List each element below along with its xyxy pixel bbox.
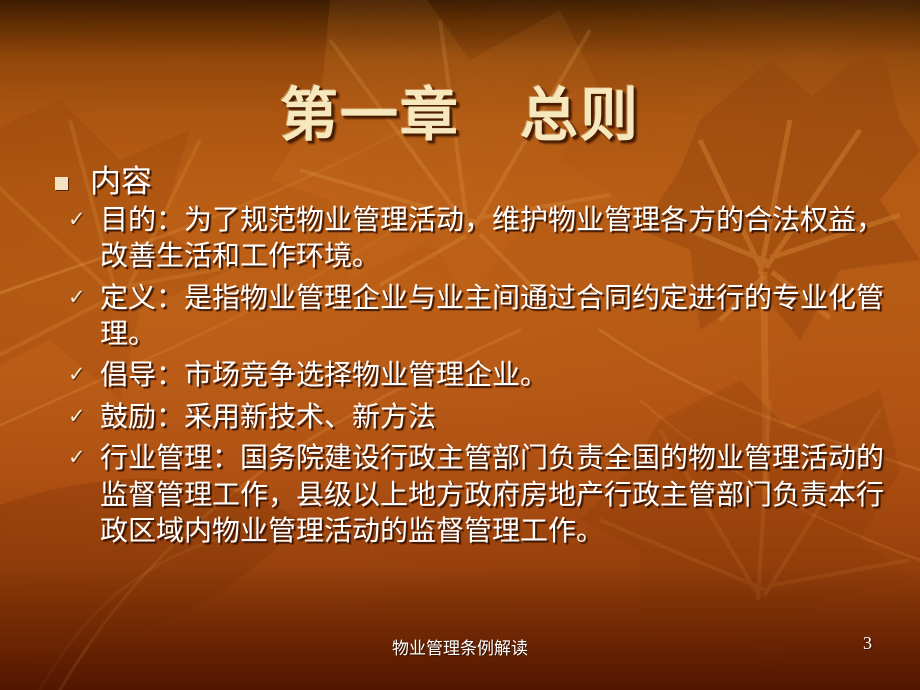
bullet-item-encouragement: ✓ 鼓励：采用新技术、新方法	[44, 400, 892, 436]
page-number: 3	[863, 633, 872, 654]
bullet-item-advocacy: ✓ 倡导：市场竞争选择物业管理企业。	[44, 358, 892, 394]
bullet-item-purpose: ✓ 目的：为了规范物业管理活动，维护物业管理各方的合法权益，改善生活和工作环境。	[44, 203, 892, 276]
check-bullet-icon: ✓	[68, 447, 86, 468]
presentation-slide: 第一章 总则 内容 ✓ 目的：为了规范物业管理活动，维护物业管理各方的合法权益，…	[0, 0, 920, 690]
bullet-item-definition: ✓ 定义：是指物业管理企业与业主间通过合同约定进行的专业化管理。	[44, 281, 892, 354]
check-bullet-icon: ✓	[68, 287, 86, 308]
check-bullet-icon: ✓	[68, 209, 86, 230]
bullet-item-text: 定义：是指物业管理企业与业主间通过合同约定进行的专业化管理。	[100, 281, 892, 354]
slide-body-content: 内容 ✓ 目的：为了规范物业管理活动，维护物业管理各方的合法权益，改善生活和工作…	[44, 163, 892, 555]
bullet-item-text: 鼓励：采用新技术、新方法	[100, 400, 892, 436]
bullet-item-text: 行业管理：国务院建设行政主管部门负责全国的物业管理活动的监督管理工作，县级以上地…	[100, 441, 892, 550]
bullet-item-industry-management: ✓ 行业管理：国务院建设行政主管部门负责全国的物业管理活动的监督管理工作，县级以…	[44, 441, 892, 550]
content-heading-label: 内容	[90, 163, 152, 201]
bullet-item-text: 倡导：市场竞争选择物业管理企业。	[100, 358, 892, 394]
content-heading-row: 内容	[44, 163, 892, 201]
check-bullet-icon: ✓	[68, 406, 86, 427]
slide-title: 第一章 总则	[0, 87, 920, 145]
slide-footer: 物业管理条例解读	[0, 634, 920, 659]
check-bullet-icon: ✓	[68, 364, 86, 385]
bullet-item-text: 目的：为了规范物业管理活动，维护物业管理各方的合法权益，改善生活和工作环境。	[100, 203, 892, 276]
square-bullet-icon	[55, 177, 68, 190]
